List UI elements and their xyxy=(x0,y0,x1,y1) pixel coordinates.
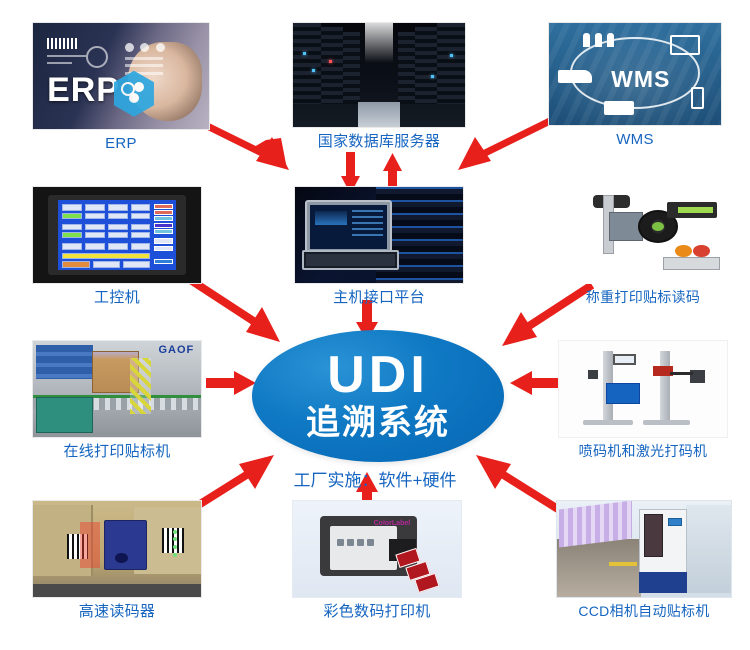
arrow-online-labeler-to-udi xyxy=(206,368,258,398)
color-digital-printer-photo: ColorLabel xyxy=(292,500,462,598)
node-label-coder: 喷码机和激光打码机 xyxy=(579,444,708,459)
udi-sub-label: 追溯系统 xyxy=(306,405,450,442)
node-label-industrial-pc: 工控机 xyxy=(94,290,140,307)
node-online-labeler[interactable]: GAOF 在线打印贴标机 xyxy=(22,340,212,461)
udi-main-label: UDI xyxy=(327,349,429,401)
node-national-db[interactable]: 国家数据库服务器 xyxy=(280,22,478,151)
node-erp[interactable]: ERP ERP xyxy=(22,22,220,153)
high-speed-reader-photo xyxy=(32,500,202,598)
erp-overlay-text: ERP xyxy=(47,71,120,110)
node-label-hs-reader: 高速读码器 xyxy=(79,604,156,621)
node-label-wms: WMS xyxy=(616,132,654,149)
ccd-auto-labeler-photo xyxy=(556,500,732,598)
node-label-host-platform: 主机接口平台 xyxy=(333,290,425,307)
node-hs-reader[interactable]: 高速读码器 xyxy=(22,500,212,621)
data-center-photo xyxy=(292,22,466,128)
printer-brand-text: ColorLabel xyxy=(374,520,411,527)
node-ccd-labeler[interactable]: CCD相机自动贴标机 xyxy=(546,500,742,619)
node-weigh-label[interactable]: 称重打印贴标读码 xyxy=(548,186,738,305)
wms-overlay-text: WMS xyxy=(611,66,670,93)
erp-photo: ERP xyxy=(32,22,210,130)
node-host-platform[interactable]: 主机接口平台 xyxy=(286,186,472,307)
conveyor-labeler-photo: GAOF xyxy=(32,340,202,438)
udi-implementation-caption: 工厂实施：软件+硬件 xyxy=(0,466,750,491)
node-label-weigh-label: 称重打印贴标读码 xyxy=(586,290,700,305)
node-label-ccd-labeler: CCD相机自动贴标机 xyxy=(578,604,709,619)
inkjet-laser-coder-photo xyxy=(558,340,728,438)
weigh-print-label-photo xyxy=(558,186,728,284)
node-color-printer[interactable]: ColorLabel 彩色数码打印机 xyxy=(282,500,472,621)
node-label-online-labeler: 在线打印贴标机 xyxy=(63,444,170,461)
hmi-panel-photo xyxy=(32,186,202,284)
conveyor-brand-text: GAOF xyxy=(159,344,195,356)
node-coder[interactable]: 喷码机和激光打码机 xyxy=(548,340,738,459)
node-label-color-printer: 彩色数码打印机 xyxy=(323,604,430,621)
udi-traceability-diagram: UDI 追溯系统 工厂实施：软件+硬件 ERP ERP xyxy=(0,0,750,650)
server-laptop-photo xyxy=(294,186,464,284)
node-industrial-pc[interactable]: 工控机 xyxy=(22,186,212,307)
node-label-erp: ERP xyxy=(105,136,137,153)
node-wms[interactable]: WMS WMS xyxy=(540,22,730,149)
wms-photo: WMS xyxy=(548,22,722,126)
node-label-national-db: 国家数据库服务器 xyxy=(318,134,440,151)
udi-center-node[interactable]: UDI 追溯系统 xyxy=(252,330,504,462)
